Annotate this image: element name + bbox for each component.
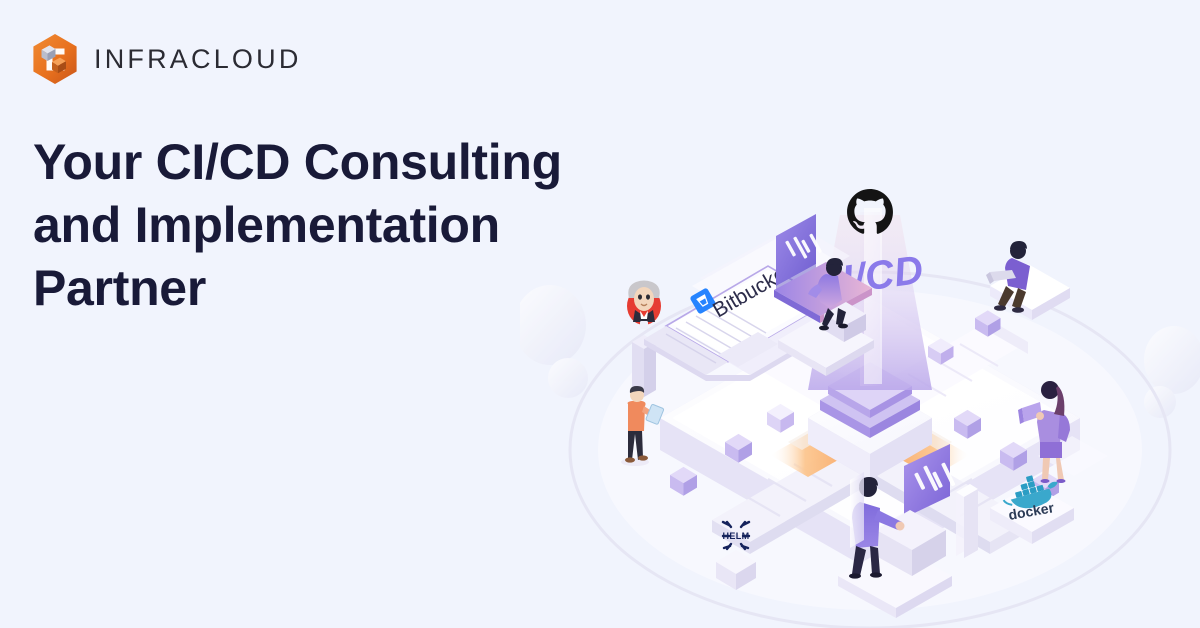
person-sitting-with-laptop xyxy=(986,241,1070,320)
brand-logo[interactable]: INFRACLOUD xyxy=(30,33,302,85)
brand-wordmark: INFRACLOUD xyxy=(94,44,302,75)
headline-line-3: Partner xyxy=(33,260,206,316)
cicd-pipeline-illustration: CI/CD xyxy=(520,150,1200,628)
hero-banner: INFRACLOUD Your CI/CD Consulting and Imp… xyxy=(0,0,1200,628)
helm-label: HELM xyxy=(722,531,749,541)
infracloud-hexagon-logo-icon xyxy=(30,33,80,85)
headline-line-1: Your CI/CD Consulting xyxy=(33,134,562,190)
headline-line-2: and Implementation xyxy=(33,197,500,253)
